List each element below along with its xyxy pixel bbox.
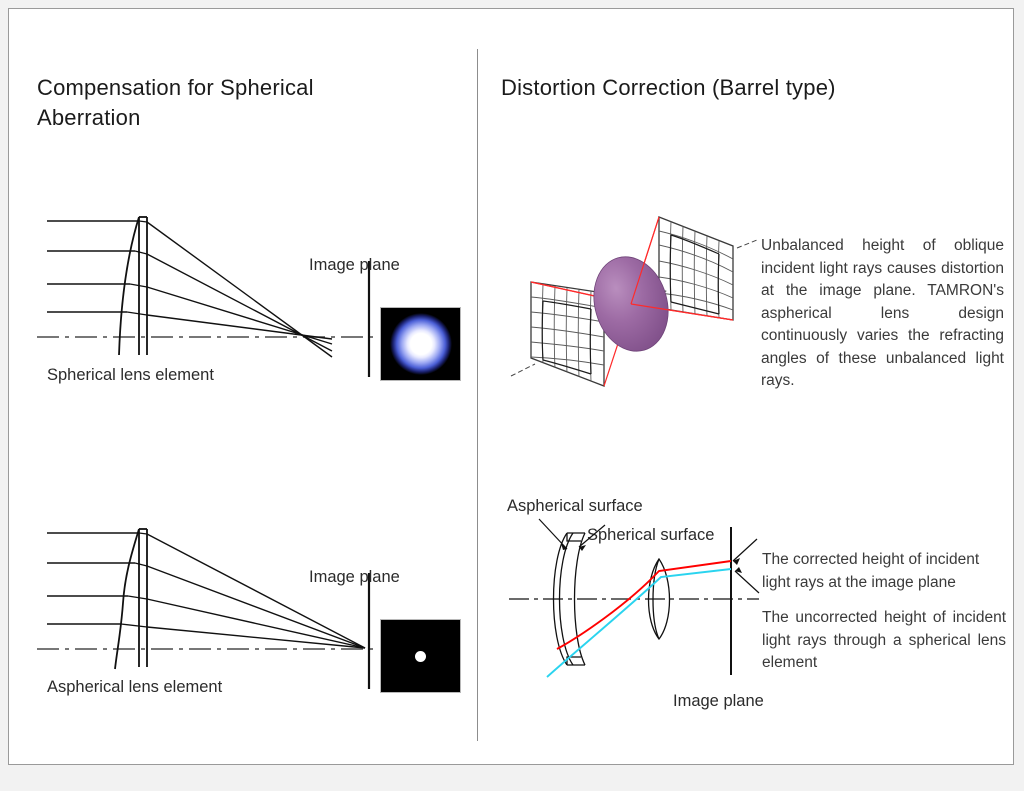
corrected-ray-caption: The corrected height of incident light r…: [762, 549, 1007, 594]
spherical-lens-element-label: Spherical lens element: [47, 365, 214, 385]
right-panel-title: Distortion Correction (Barrel type): [501, 73, 941, 103]
barrel-distortion-illustration: [509, 204, 759, 399]
corrected-callout-line: [733, 539, 757, 561]
axis-stub: [737, 240, 757, 248]
uncorrected-callout-line: [735, 571, 759, 593]
axis-stub: [511, 364, 535, 376]
uncorrected-ray-caption: The uncorrected height of incident light…: [762, 607, 1006, 675]
lens-curved-surface: [119, 217, 139, 355]
refracted-ray: [147, 534, 365, 648]
ray-in-lens: [121, 624, 147, 627]
ray-in-lens: [139, 221, 147, 222]
object-grid-plane: [511, 282, 604, 386]
corrected-ray: [557, 561, 731, 649]
ray-in-lens: [139, 533, 147, 534]
ray-in-lens: [135, 563, 147, 566]
content-frame: Compensation for Spherical Aberration: [8, 8, 1014, 765]
spot-point: [415, 651, 426, 662]
ray-in-lens: [135, 251, 147, 254]
panel-divider: [477, 49, 478, 741]
diagram-page: Compensation for Spherical Aberration: [0, 0, 1024, 791]
spot-blur-halo: [390, 313, 452, 375]
spot-diagram-spherical: [380, 307, 461, 381]
corrected-ray-figure: [509, 509, 769, 709]
ray-in-lens: [127, 312, 147, 315]
lens-aspheric-surface: [115, 529, 139, 669]
grid-planes-3d: [509, 204, 759, 399]
aspherical-leader-line: [539, 519, 567, 549]
left-panel-title: Compensation for Spherical Aberration: [37, 73, 407, 133]
spot-diagram-aspherical: [380, 619, 461, 693]
image-plane-label-spherical: Image plane: [309, 255, 400, 275]
refracted-ray: [147, 315, 332, 339]
corrected-callout-arrow: [733, 558, 740, 565]
corrected-uncorrected-ray-diagram: [509, 509, 769, 709]
image-plane-label-correction: Image plane: [673, 691, 764, 711]
image-plane-label-aspherical: Image plane: [309, 567, 400, 587]
distortion-description: Unbalanced height of oblique incident li…: [761, 235, 1004, 393]
aspherical-lens-element-label: Aspherical lens element: [47, 677, 222, 697]
image-grid-plane: [659, 217, 757, 320]
ray-in-lens: [128, 596, 147, 599]
